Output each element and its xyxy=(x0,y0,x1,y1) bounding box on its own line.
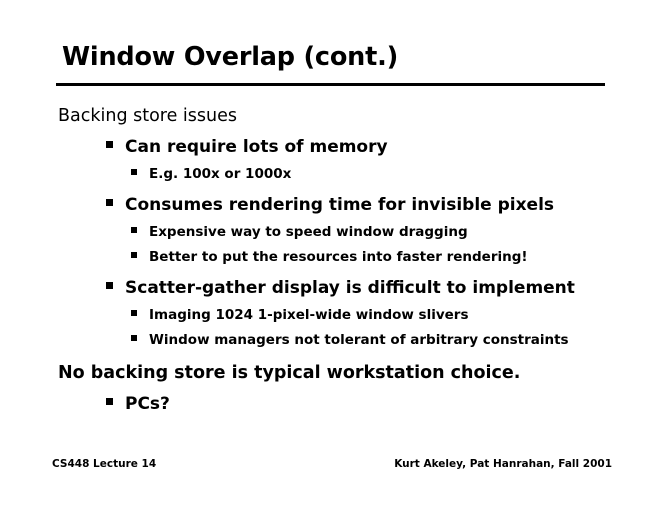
footer-authors-label: Kurt Akeley, Pat Hanrahan, Fall 2001 xyxy=(394,458,612,470)
square-bullet-icon xyxy=(131,310,137,316)
bullet-level1: No backing store is typical workstation … xyxy=(0,365,660,383)
bullet-text: Consumes rendering time for invisible pi… xyxy=(125,197,554,214)
bullet-text: Better to put the resources into faster … xyxy=(149,251,528,265)
bullet-level2: Scatter-gather display is difficult to i… xyxy=(0,280,660,297)
slide-body: Backing store issues Can require lots of… xyxy=(0,108,660,425)
bullet-level2: PCs? xyxy=(0,396,660,413)
bullet-text: Window managers not tolerant of arbitrar… xyxy=(149,334,569,348)
bullet-text: Backing store issues xyxy=(58,108,237,126)
square-bullet-icon xyxy=(131,169,137,175)
slide-footer: CS448 Lecture 14 Kurt Akeley, Pat Hanrah… xyxy=(52,458,612,470)
square-bullet-icon xyxy=(106,282,113,289)
bullet-level3: Imaging 1024 1-pixel-wide window slivers xyxy=(0,309,660,323)
bullet-level2: Can require lots of memory xyxy=(0,139,660,156)
square-bullet-icon xyxy=(106,199,113,206)
bullet-level3: Expensive way to speed window dragging xyxy=(0,226,660,240)
square-bullet-icon xyxy=(131,252,137,258)
bullet-text: Scatter-gather display is difficult to i… xyxy=(125,280,575,297)
bullet-text: Imaging 1024 1-pixel-wide window slivers xyxy=(149,309,469,323)
bullet-level1: Backing store issues xyxy=(0,108,660,126)
bullet-level3: E.g. 100x or 1000x xyxy=(0,168,660,182)
bullet-text: Can require lots of memory xyxy=(125,139,388,156)
bullet-level3: Better to put the resources into faster … xyxy=(0,251,660,265)
presentation-slide: Window Overlap (cont.) Backing store iss… xyxy=(0,0,660,510)
bullet-text: E.g. 100x or 1000x xyxy=(149,168,291,182)
slide-title: Window Overlap (cont.) xyxy=(62,44,398,71)
bullet-text: No backing store is typical workstation … xyxy=(58,365,520,383)
square-bullet-icon xyxy=(131,227,137,233)
footer-course-label: CS448 Lecture 14 xyxy=(52,458,156,470)
square-bullet-icon xyxy=(131,335,137,341)
bullet-text: PCs? xyxy=(125,396,170,413)
title-underline-rule xyxy=(56,83,605,86)
square-bullet-icon xyxy=(106,398,113,405)
bullet-text: Expensive way to speed window dragging xyxy=(149,226,468,240)
square-bullet-icon xyxy=(106,141,113,148)
bullet-level2: Consumes rendering time for invisible pi… xyxy=(0,197,660,214)
bullet-level3: Window managers not tolerant of arbitrar… xyxy=(0,334,660,348)
